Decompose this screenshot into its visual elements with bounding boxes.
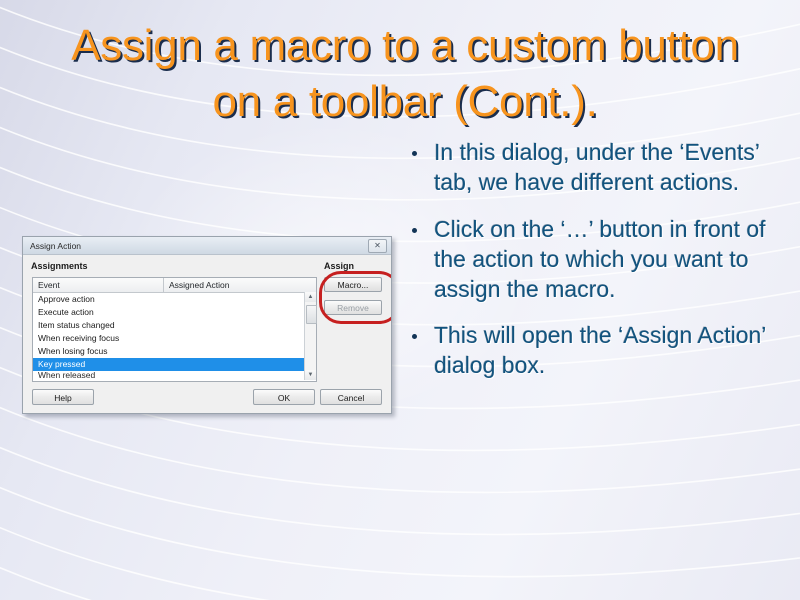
macro-button[interactable]: Macro... [324,277,382,292]
assignments-label: Assignments [31,261,88,271]
help-button[interactable]: Help [32,389,94,405]
column-header-assigned-action: Assigned Action [164,278,316,292]
list-rows: Approve action Execute action Item statu… [33,293,316,381]
list-item[interactable]: When receiving focus [33,332,316,345]
ok-button[interactable]: OK [253,389,315,405]
bullet-dot-icon [412,334,417,339]
cancel-button[interactable]: Cancel [320,389,382,405]
bullet-dot-icon [412,151,417,156]
close-icon[interactable]: ✕ [368,239,387,253]
bullet-text: Click on the ‘…’ button in front of the … [434,215,786,305]
dialog-body: Assignments Event Assigned Action Approv… [23,255,391,413]
scroll-down-icon[interactable]: ▼ [305,370,316,380]
column-header-event: Event [33,278,164,292]
bullet-dot-icon [412,228,417,233]
assign-group-label: Assign [324,261,386,271]
remove-button[interactable]: Remove [324,300,382,315]
bullet-text: This will open the ‘Assign Action’ dialo… [434,321,786,381]
list-scrollbar[interactable]: ▲ ▼ [304,292,316,380]
bullet-item: In this dialog, under the ‘Events’ tab, … [408,138,786,198]
dialog-title: Assign Action [30,241,81,251]
bullet-item: This will open the ‘Assign Action’ dialo… [408,321,786,381]
scrollbar-thumb[interactable] [306,305,317,324]
list-item-selected[interactable]: Key pressed [33,358,316,371]
list-item[interactable]: When losing focus [33,345,316,358]
bullet-text: In this dialog, under the ‘Events’ tab, … [434,138,786,198]
bullet-list: In this dialog, under the ‘Events’ tab, … [408,138,786,398]
slide-title: Assign a macro to a custom button on a t… [60,18,750,131]
list-item[interactable]: Approve action [33,293,316,306]
slide: Assign a macro to a custom button on a t… [0,0,800,600]
bullet-item: Click on the ‘…’ button in front of the … [408,215,786,305]
scroll-up-icon[interactable]: ▲ [305,292,316,302]
list-item[interactable]: Item status changed [33,319,316,332]
dialog-titlebar: Assign Action ✕ [23,237,391,255]
list-header: Event Assigned Action [33,278,316,293]
dialog-footer: Help OK Cancel [23,389,391,407]
assign-action-dialog-screenshot: Assign Action ✕ Assignments Event Assign… [22,236,392,414]
events-list[interactable]: Event Assigned Action Approve action Exe… [32,277,317,382]
assign-group: Assign Macro... Remove [324,261,386,323]
list-item[interactable]: When released [33,371,316,378]
list-item[interactable]: Execute action [33,306,316,319]
